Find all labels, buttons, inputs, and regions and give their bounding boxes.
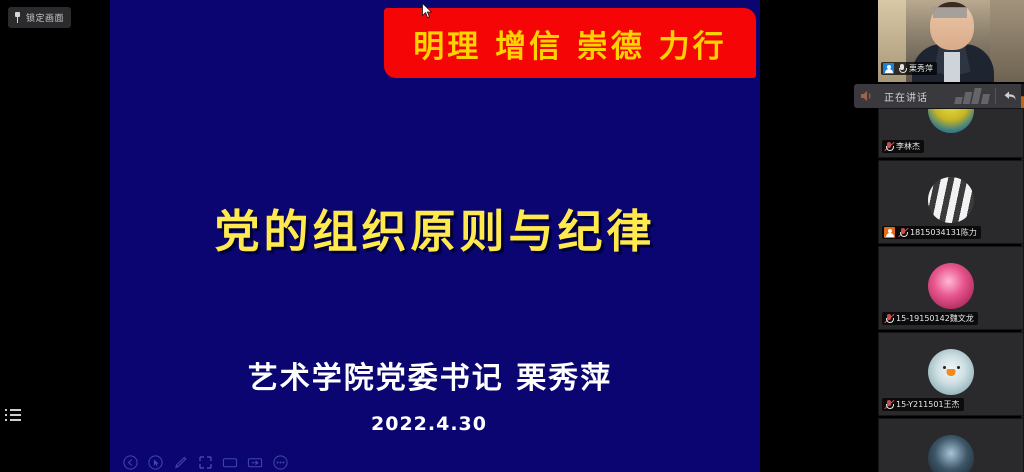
pin-icon: [13, 12, 22, 23]
presenter-name-label: 栗秀萍: [909, 63, 933, 74]
avatar: [928, 177, 974, 223]
left-rail: 锁定画面: [0, 0, 110, 472]
avatar: [928, 108, 974, 133]
pen-icon[interactable]: [172, 454, 188, 470]
more-icon[interactable]: [272, 454, 288, 470]
participant-name-label: 15-19150142魏文龙: [896, 313, 974, 324]
list-bar: [10, 409, 21, 411]
speaker-icon: [858, 88, 874, 104]
avatar: [883, 63, 894, 74]
presenter-name-chip: 栗秀萍: [881, 62, 937, 75]
speaking-status-label: 正在讲话: [884, 89, 928, 104]
background-wall-right: [990, 0, 1024, 82]
ppt-toolbar[interactable]: [122, 454, 288, 470]
participant-name-label: 1815034131陈力: [910, 227, 977, 238]
divider: [995, 88, 996, 104]
participant-name-chip: 15-19150142魏文龙: [882, 312, 978, 325]
participant-tile[interactable]: 1815034131陈力: [878, 160, 1024, 244]
audio-wave-icon: [955, 88, 989, 104]
presenter-video-tile[interactable]: 栗秀萍: [878, 0, 1024, 82]
microphone-muted-icon: [898, 227, 907, 238]
list-dot: [5, 414, 7, 416]
slide-banner-text: 明理 增信 崇德 力行: [413, 21, 726, 66]
back-arrow-icon[interactable]: [1003, 87, 1017, 106]
list-bar: [10, 414, 21, 416]
slide-presenter-line: 艺术学院党委书记 栗秀萍: [110, 353, 760, 397]
slide-title: 党的组织原则与纪律: [110, 195, 760, 260]
list-row: [5, 409, 25, 411]
participant-name-chip: 李林杰: [882, 140, 924, 153]
participants-panel-inner: 栗秀萍 正在讲话: [878, 0, 1024, 472]
participant-tile[interactable]: 李林杰: [878, 108, 1024, 158]
avatar-badge: [884, 227, 895, 238]
microphone-icon: [897, 63, 906, 74]
notes-icon[interactable]: [247, 454, 263, 470]
speaking-status-bar: 正在讲话: [854, 84, 1024, 108]
microphone-muted-icon: [884, 141, 893, 152]
avatar: [928, 263, 974, 309]
fit-screen-icon[interactable]: [197, 454, 213, 470]
participant-tile[interactable]: [878, 418, 1024, 472]
participant-name-label: 15-Y211501王杰: [896, 399, 960, 410]
microphone-muted-icon: [884, 313, 893, 324]
avatar: [928, 349, 974, 395]
privacy-blur-bar: [933, 7, 967, 18]
microphone-muted-icon: [884, 399, 893, 410]
participant-name-label: 李林杰: [896, 141, 920, 152]
slide-date: 2022.4.30: [110, 413, 760, 435]
participants-panel: 栗秀萍 正在讲话: [760, 0, 1024, 472]
list-bar: [10, 419, 21, 421]
play-pointer-icon[interactable]: [147, 454, 163, 470]
list-dot: [5, 409, 7, 411]
participant-list-icon[interactable]: [5, 405, 25, 425]
slide-banner: 明理 增信 崇德 力行: [384, 8, 756, 78]
shared-slide-stage[interactable]: 明理 增信 崇德 力行 党的组织原则与纪律 艺术学院党委书记 栗秀萍 2022.…: [110, 0, 760, 472]
list-row: [5, 419, 25, 421]
participant-name-chip: 1815034131陈力: [882, 226, 981, 239]
lock-screen-button[interactable]: 锁定画面: [8, 7, 71, 28]
previous-slide-icon[interactable]: [122, 454, 138, 470]
presenter-shirt: [944, 52, 960, 82]
participant-tile[interactable]: 15-19150142魏文龙: [878, 246, 1024, 330]
participant-tile[interactable]: 15-Y211501王杰: [878, 332, 1024, 416]
meeting-screen-share-window: 锁定画面 明理 增信 崇德 力行 党的组织原则与纪律 艺术学院党委书记 栗秀萍: [0, 0, 1024, 472]
screen-icon[interactable]: [222, 454, 238, 470]
list-dot: [5, 419, 7, 421]
lock-screen-label: 锁定画面: [26, 11, 64, 24]
list-row: [5, 414, 25, 416]
avatar: [928, 435, 974, 472]
participant-name-chip: 15-Y211501王杰: [882, 398, 964, 411]
